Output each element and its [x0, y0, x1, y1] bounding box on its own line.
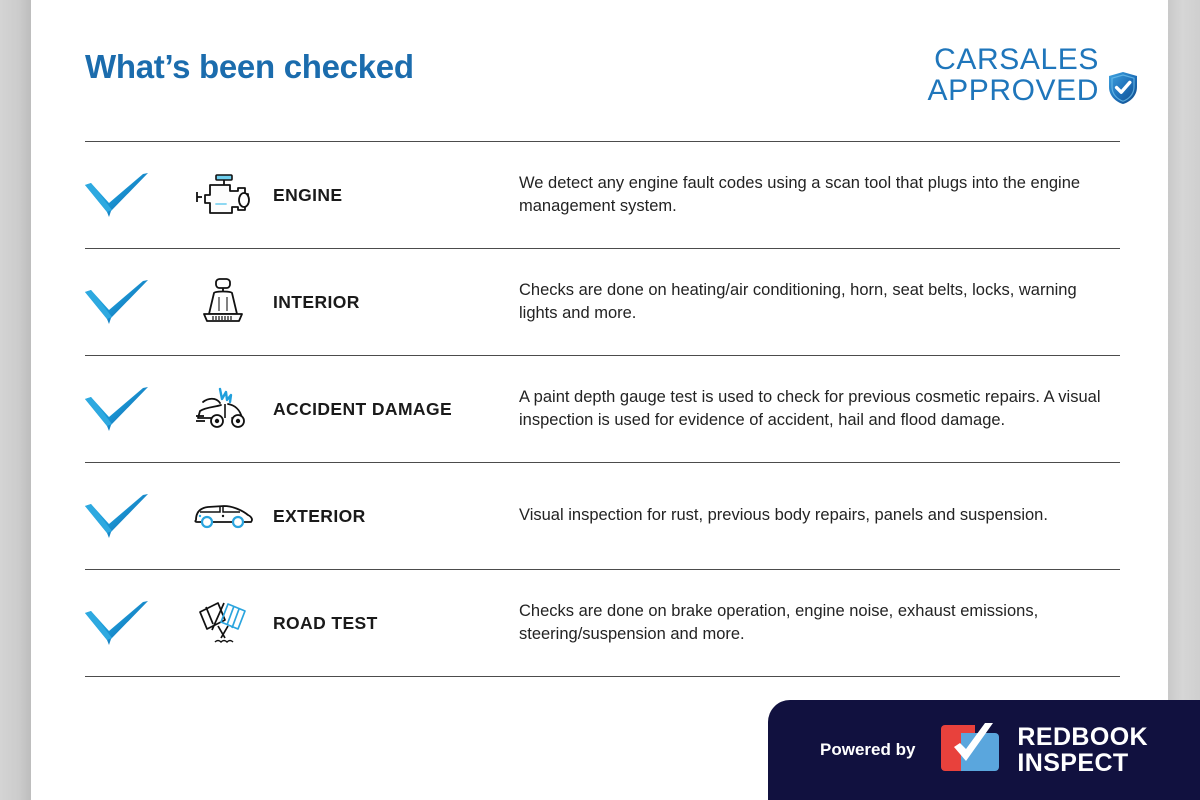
divider [85, 676, 1120, 677]
redbook-line-2: INSPECT [1017, 750, 1148, 777]
checklist-label: ACCIDENT DAMAGE [273, 399, 519, 420]
page-title: What’s been checked [85, 48, 414, 86]
carsales-approved-wordmark: CARSALES APPROVED [927, 44, 1099, 106]
checklist-description: Checks are done on heating/air condition… [519, 279, 1120, 326]
car-side-icon [173, 499, 273, 533]
checklist-label: ROAD TEST [273, 613, 519, 634]
redbook-check-logo [939, 717, 1003, 784]
checklist-description: We detect any engine fault codes using a… [519, 172, 1120, 219]
checklist-label: INTERIOR [273, 292, 519, 313]
inspection-summary-page: What’s been checked CARSALES APPROVED [31, 0, 1168, 800]
blue-check-icon [85, 279, 173, 325]
carsales-approved-logo: CARSALES APPROVED [927, 44, 1138, 110]
engine-icon [173, 172, 273, 218]
redbook-line-1: REDBOOK [1017, 724, 1148, 751]
blue-check-icon [85, 386, 173, 432]
racing-flags-icon [173, 598, 273, 648]
shield-check-icon [1108, 71, 1138, 110]
blue-check-icon [85, 493, 173, 539]
checklist-description: A paint depth gauge test is used to chec… [519, 386, 1120, 433]
brand-line-approved: APPROVED [927, 75, 1099, 106]
blue-check-icon [85, 172, 173, 218]
blue-check-icon [85, 600, 173, 646]
checklist: ENGINE We detect any engine fault codes … [85, 141, 1120, 677]
checklist-label: EXTERIOR [273, 506, 519, 527]
checklist-label: ENGINE [273, 185, 519, 206]
redbook-inspect-wordmark: REDBOOK INSPECT [1017, 724, 1148, 777]
checklist-row-road-test[interactable]: ROAD TEST Checks are done on brake opera… [85, 570, 1120, 676]
checklist-description: Visual inspection for rust, previous bod… [519, 504, 1120, 527]
powered-by-redbook-badge: Powered by REDBOOK INSPECT [768, 700, 1200, 800]
powered-by-label: Powered by [820, 740, 915, 760]
checklist-row-engine[interactable]: ENGINE We detect any engine fault codes … [85, 142, 1120, 248]
checklist-description: Checks are done on brake operation, engi… [519, 600, 1120, 647]
car-crash-icon [173, 385, 273, 433]
checklist-row-exterior[interactable]: EXTERIOR Visual inspection for rust, pre… [85, 463, 1120, 569]
checklist-row-accident-damage[interactable]: ACCIDENT DAMAGE A paint depth gauge test… [85, 356, 1120, 462]
car-seat-icon [173, 277, 273, 327]
checklist-row-interior[interactable]: INTERIOR Checks are done on heating/air … [85, 249, 1120, 355]
page-header: What’s been checked CARSALES APPROVED [31, 0, 1168, 132]
right-page-gutter [1168, 0, 1200, 800]
left-page-gutter [0, 0, 31, 800]
brand-line-carsales: CARSALES [927, 44, 1099, 75]
